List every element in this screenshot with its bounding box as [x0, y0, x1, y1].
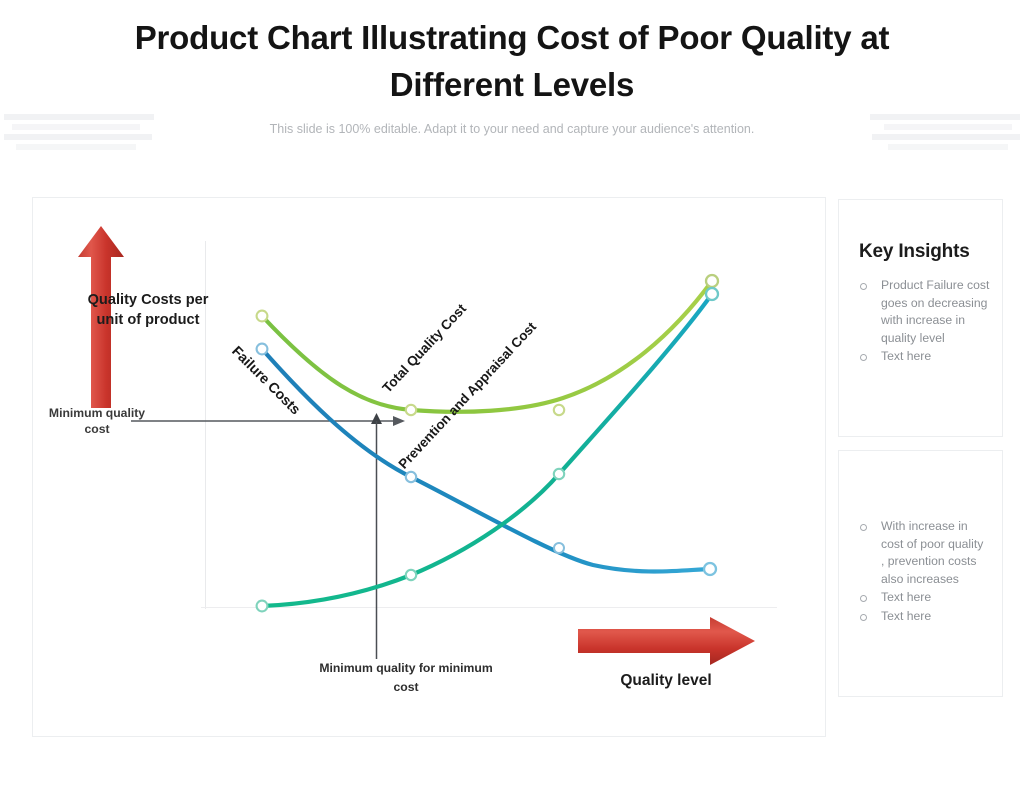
data-point-marker: [706, 275, 718, 287]
decorative-lines-right: [864, 112, 1024, 164]
list-item: Product Failure cost goes on decreasing …: [859, 277, 990, 347]
data-point-marker: [706, 288, 718, 300]
data-point-marker: [554, 469, 564, 479]
chart-panel: Quality Costs per unit of product Minimu…: [32, 197, 826, 737]
data-point-marker: [554, 405, 564, 415]
key-insights-heading: Key Insights: [859, 241, 1002, 263]
page-title: Product Chart Illustrating Cost of Poor …: [0, 14, 1024, 108]
data-point-marker: [704, 563, 716, 575]
list-item: Text here: [859, 348, 990, 366]
data-point-marker: [554, 543, 564, 553]
secondary-insights-list: With increase in cost of poor quality , …: [839, 451, 1002, 626]
quality-level-right-arrow-icon: [578, 616, 756, 666]
chart-plot-area: Quality Costs per unit of product Minimu…: [33, 198, 825, 736]
page-subtitle: This slide is 100% editable. Adapt it to…: [0, 122, 1024, 136]
data-point-marker: [406, 405, 416, 415]
list-item: Text here: [859, 589, 990, 607]
x-axis-title: Quality level: [578, 672, 754, 690]
series-total-quality-cost-curve: [262, 281, 712, 412]
data-point-marker: [406, 472, 416, 482]
data-point-marker: [257, 311, 268, 322]
data-point-marker: [257, 344, 268, 355]
list-item: With increase in cost of poor quality , …: [859, 518, 990, 588]
series-prevention-appraisal-cost-curve: [262, 294, 712, 606]
list-item: Text here: [859, 608, 990, 626]
data-point-marker: [257, 601, 268, 612]
key-insights-list: Product Failure cost goes on decreasing …: [839, 277, 1002, 366]
data-point-marker: [406, 570, 416, 580]
key-insights-panel: Key Insights Product Failure cost goes o…: [838, 199, 1003, 437]
secondary-insights-panel: With increase in cost of poor quality , …: [838, 450, 1003, 697]
decorative-lines-left: [0, 112, 160, 164]
